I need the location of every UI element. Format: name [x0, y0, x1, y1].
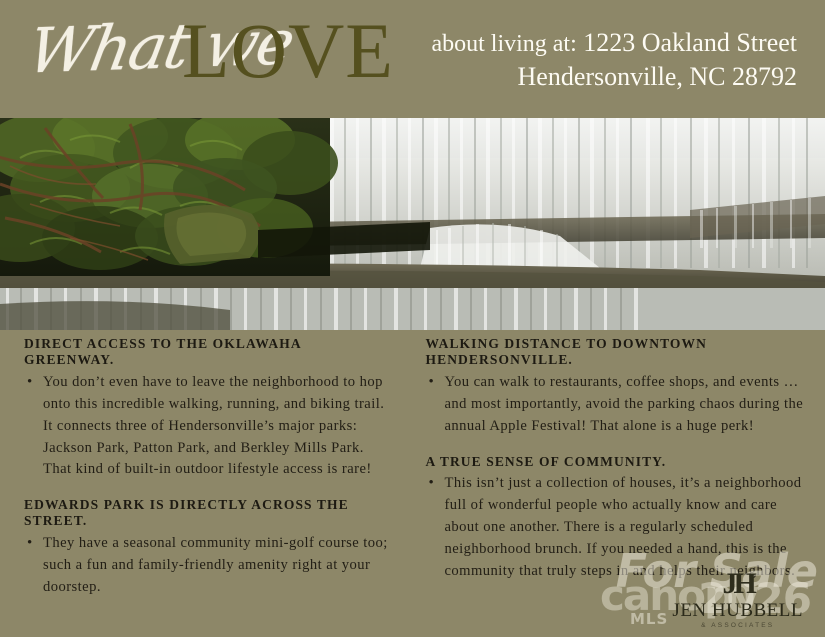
address-street-text: 1223 Oakland Street [583, 28, 797, 57]
address-line-street: about living at: 1223 Oakland Street [431, 26, 797, 60]
hero-illustration [0, 118, 825, 330]
flyer-header: What we LOVE about living at: 1223 Oakla… [0, 0, 825, 118]
agent-name-text: Jen Hubbell [672, 601, 803, 620]
list-item: You can walk to restaurants, coffee shop… [428, 372, 808, 438]
section-heading-edwards-park: EDWARDS PARK IS DIRECTLY ACROSS THE STRE… [24, 497, 394, 529]
content-right-column: WALKING DISTANCE TO DOWNTOWN HENDERSONVI… [416, 336, 808, 601]
section-heading-sense-of-community: A TRUE SENSE OF COMMUNITY. [426, 454, 808, 470]
section-heading-oklawaha-greenway: DIRECT ACCESS TO THE OKLAWAHA GREENWAY. [24, 336, 394, 368]
list-item: You don’t even have to leave the neighbo… [26, 372, 394, 481]
bullet-list-oklawaha-greenway: You don’t even have to leave the neighbo… [26, 372, 394, 481]
flyer-page: What we LOVE about living at: 1223 Oakla… [0, 0, 825, 637]
address-line-city: Hendersonville, NC 28792 [431, 60, 797, 94]
bullet-list-edwards-park: They have a seasonal community mini-golf… [26, 533, 394, 599]
bullet-list-walking-distance-downtown: You can walk to restaurants, coffee shop… [428, 372, 808, 438]
content-left-column: DIRECT ACCESS TO THE OKLAWAHA GREENWAY. … [24, 336, 416, 601]
agent-subtitle-text: & Associates [672, 623, 803, 630]
section-heading-walking-distance-downtown: WALKING DISTANCE TO DOWNTOWN HENDERSONVI… [426, 336, 808, 368]
header-word-love: LOVE [182, 12, 394, 90]
header-address-block: about living at: 1223 Oakland Street Hen… [431, 26, 797, 94]
agent-monogram-icon: JH [672, 569, 803, 599]
agent-logo: JH Jen Hubbell & Associates [672, 569, 803, 630]
list-item: They have a seasonal community mini-golf… [26, 533, 394, 599]
hero-waterfall-image [0, 118, 825, 330]
address-lead-text: about living at: [431, 31, 576, 57]
